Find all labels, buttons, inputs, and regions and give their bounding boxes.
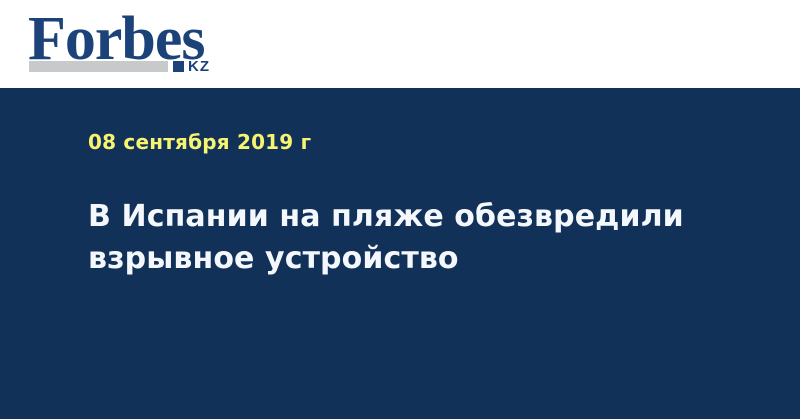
- article-hero-page: Forbes KZ 08 сентября 2019 г В Испании н…: [0, 0, 800, 419]
- logo-square-icon: [173, 61, 184, 72]
- logo-country-suffix: KZ: [188, 59, 210, 74]
- article-hero: 08 сентября 2019 г В Испании на пляже об…: [0, 88, 800, 419]
- logo-gray-bar: [29, 61, 168, 72]
- site-header: Forbes KZ: [0, 0, 800, 88]
- article-headline[interactable]: В Испании на пляже обезвредили взрывное …: [88, 196, 728, 280]
- article-date: 08 сентября 2019 г: [88, 130, 311, 154]
- forbes-kz-logo[interactable]: Forbes KZ: [28, 8, 238, 80]
